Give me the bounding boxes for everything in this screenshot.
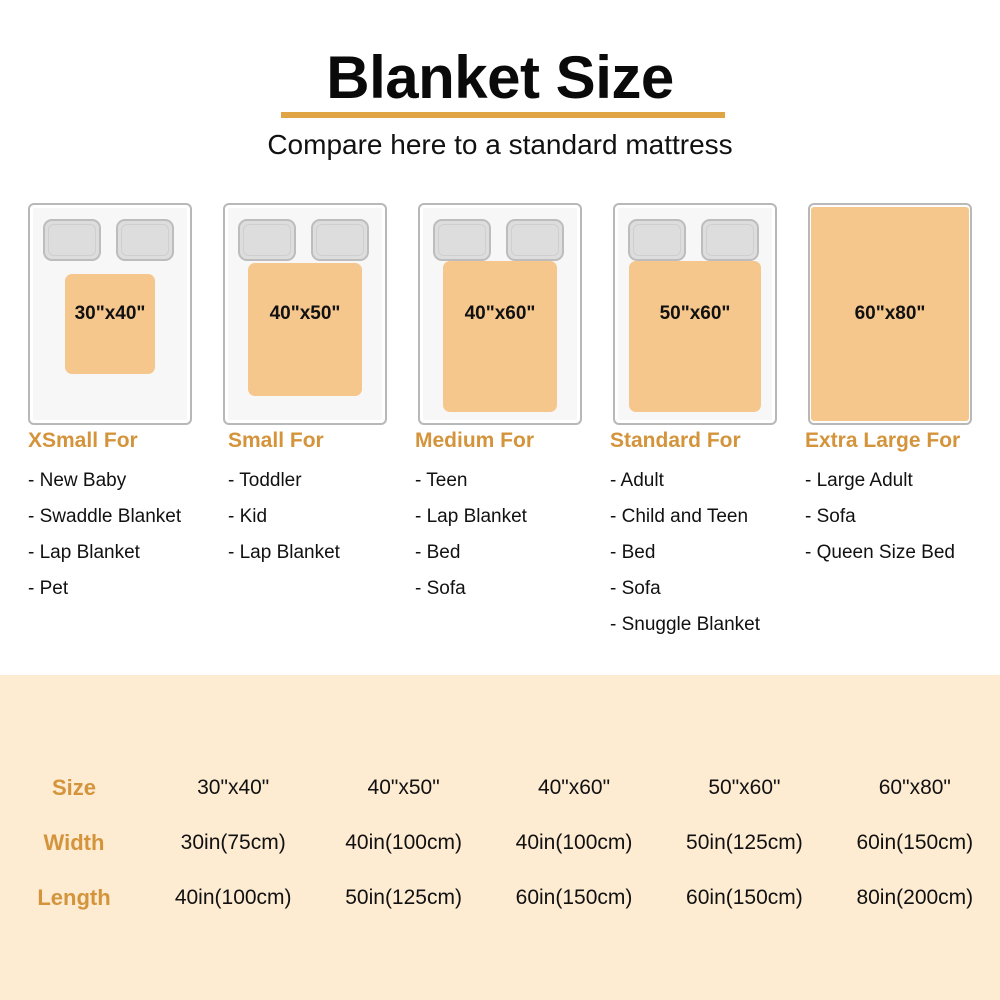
blanket-size-label: 40"x60": [418, 303, 582, 325]
spec-table-row: Size30"x40"40"x50"40"x60"50"x60"60"x80": [0, 760, 1000, 815]
bed-diagram: 40"x50": [223, 203, 387, 425]
description-column: Standard For- Adult- Child and Teen- Bed…: [610, 430, 810, 651]
spec-table-cell: 40in(100cm): [489, 831, 659, 855]
header: Blanket Size Compare here to a standard …: [0, 0, 1000, 180]
description-list-item: - Lap Blanket: [415, 507, 615, 526]
description-list-item: - Sofa: [610, 579, 810, 598]
blanket-size-label: 40"x50": [223, 303, 387, 325]
pillow-icon: [506, 219, 564, 261]
description-list-item: - Child and Teen: [610, 507, 810, 526]
spec-table-cell: 50in(125cm): [318, 886, 488, 910]
blanket-overlay: [629, 261, 760, 412]
pillow-icon: [43, 219, 101, 261]
bed-diagrams-row: 30"x40"40"x50"40"x60"50"x60"60"x80": [0, 203, 1000, 425]
description-list-item: - Lap Blanket: [228, 543, 428, 562]
blanket-size-label: 50"x60": [613, 303, 777, 325]
description-column: Extra Large For- Large Adult- Sofa- Quee…: [805, 430, 1000, 579]
page-subtitle: Compare here to a standard mattress: [0, 128, 1000, 162]
pillow-icon: [701, 219, 759, 261]
spec-row-label: Width: [0, 830, 148, 856]
spec-table-row: Width30in(75cm)40in(100cm)40in(100cm)50i…: [0, 815, 1000, 870]
spec-table-cell: 40in(100cm): [318, 831, 488, 855]
description-list-item: - Kid: [228, 507, 428, 526]
description-columns-row: XSmall For- New Baby- Swaddle Blanket- L…: [0, 430, 1000, 660]
description-heading: Standard For: [610, 430, 810, 451]
description-list-item: - Toddler: [228, 471, 428, 490]
description-heading: Small For: [228, 430, 428, 451]
description-list-item: - Bed: [415, 543, 615, 562]
bed-diagram: 50"x60": [613, 203, 777, 425]
spec-table-cell: 60in(150cm): [489, 886, 659, 910]
spec-table-row: Length40in(100cm)50in(125cm)60in(150cm)6…: [0, 870, 1000, 925]
spec-table-cell: 50"x60": [659, 776, 829, 800]
spec-table-cell: 60"x80": [830, 776, 1000, 800]
blanket-overlay: [443, 261, 558, 412]
description-heading: Extra Large For: [805, 430, 1000, 451]
spec-table-cell: 30in(75cm): [148, 831, 318, 855]
description-heading: Medium For: [415, 430, 615, 451]
spec-table-cell: 30"x40": [148, 776, 318, 800]
description-list-item: - Sofa: [415, 579, 615, 598]
blanket-size-label: 30"x40": [28, 303, 192, 325]
description-list-item: - Sofa: [805, 507, 1000, 526]
bed-diagram: 30"x40": [28, 203, 192, 425]
description-list-item: - Teen: [415, 471, 615, 490]
description-list-item: - Snuggle Blanket: [610, 615, 810, 634]
spec-row-label: Size: [0, 775, 148, 801]
bed-diagram: 40"x60": [418, 203, 582, 425]
spec-table-cell: 40"x50": [318, 776, 488, 800]
pillow-icon: [238, 219, 296, 261]
description-list-item: - Pet: [28, 579, 228, 598]
blanket-size-label: 60"x80": [808, 303, 972, 325]
description-list-item: - Adult: [610, 471, 810, 490]
pillow-icon: [433, 219, 491, 261]
spec-row-label: Length: [0, 885, 148, 911]
description-list-item: - Lap Blanket: [28, 543, 228, 562]
blanket-overlay: [248, 263, 363, 396]
spec-table-cell: 40"x60": [489, 776, 659, 800]
pillow-icon: [628, 219, 686, 261]
spec-table-cell: 50in(125cm): [659, 831, 829, 855]
pillow-icon: [311, 219, 369, 261]
description-list-item: - Swaddle Blanket: [28, 507, 228, 526]
description-column: XSmall For- New Baby- Swaddle Blanket- L…: [28, 430, 228, 615]
spec-table-cell: 40in(100cm): [148, 886, 318, 910]
description-heading: XSmall For: [28, 430, 228, 451]
description-list-item: - Bed: [610, 543, 810, 562]
description-list-item: - New Baby: [28, 471, 228, 490]
spec-table-cell: 60in(150cm): [659, 886, 829, 910]
specification-grid: Size30"x40"40"x50"40"x60"50"x60"60"x80"W…: [0, 760, 1000, 925]
description-column: Small For- Toddler- Kid- Lap Blanket: [228, 430, 428, 579]
specification-table: Size30"x40"40"x50"40"x60"50"x60"60"x80"W…: [0, 675, 1000, 1000]
title-underline: [281, 112, 725, 118]
description-list-item: - Queen Size Bed: [805, 543, 1000, 562]
spec-table-cell: 60in(150cm): [830, 831, 1000, 855]
spec-table-cell: 80in(200cm): [830, 886, 1000, 910]
page-title: Blanket Size: [0, 48, 1000, 108]
description-list-item: - Large Adult: [805, 471, 1000, 490]
bed-diagram: 60"x80": [808, 203, 972, 425]
pillow-icon: [116, 219, 174, 261]
description-column: Medium For- Teen- Lap Blanket- Bed- Sofa: [415, 430, 615, 615]
